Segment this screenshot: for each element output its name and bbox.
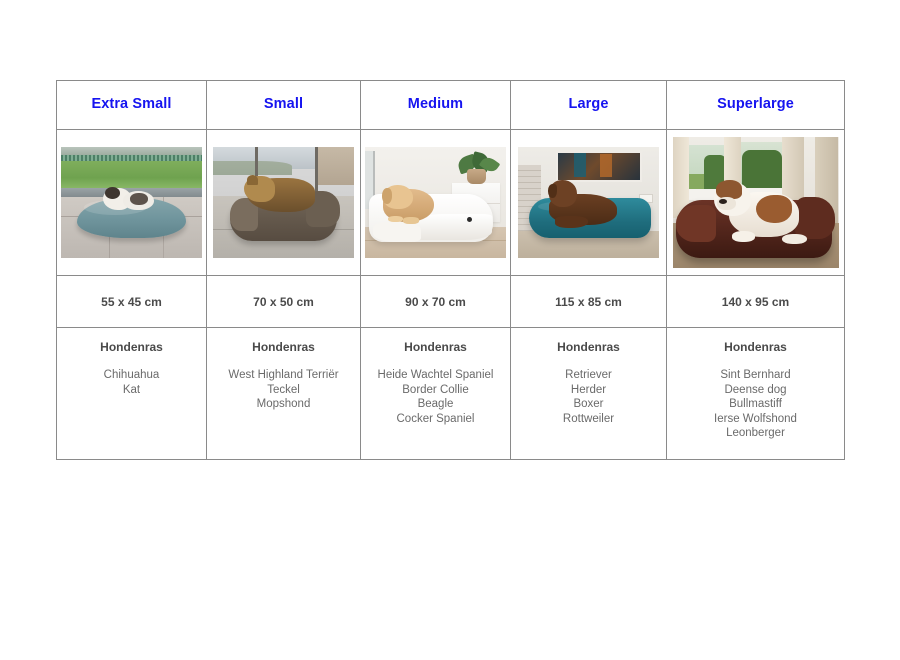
header-cell-medium: Medium <box>361 81 511 130</box>
dimension-cell-large: 115 x 85 cm <box>511 276 667 328</box>
photo-wall-layer <box>317 147 354 185</box>
breed-cell-superlarge: Hondenras Sint Bernhard Deense dog Bullm… <box>667 328 845 460</box>
breed-item: Teckel <box>207 383 360 398</box>
breed-block-superlarge: Hondenras Sint Bernhard Deense dog Bullm… <box>667 328 844 441</box>
photo-hedge-layer <box>742 150 782 191</box>
breed-item: Deense dog <box>667 383 844 398</box>
breed-item: Kat <box>57 383 206 398</box>
photo-dog-paw <box>782 234 807 244</box>
breed-item: Boxer <box>511 397 666 412</box>
dog-bed-superlarge-photo <box>673 137 839 268</box>
photo-cell-medium <box>361 130 511 276</box>
dimension-cell-small: 70 x 50 cm <box>207 276 361 328</box>
photo-window-mullion <box>315 147 318 198</box>
breed-list-extra-small: Chihuahua Kat <box>57 368 206 397</box>
breed-cell-small: Hondenras West Highland Terriër Teckel M… <box>207 328 361 460</box>
photo-dog-ear <box>247 175 258 185</box>
dog-bed-medium-photo <box>365 147 506 258</box>
breed-list-large: Retriever Herder Boxer Rottweiler <box>511 368 666 426</box>
header-cell-small: Small <box>207 81 361 130</box>
breed-item: Chihuahua <box>57 368 206 383</box>
dimension-label-small: 70 x 50 cm <box>207 295 360 309</box>
photo-plant-pot <box>467 169 487 183</box>
breed-block-small: Hondenras West Highland Terriër Teckel M… <box>207 328 360 412</box>
breed-title-small: Hondenras <box>207 340 360 354</box>
table-dimension-row: 55 x 45 cm 70 x 50 cm 90 x 70 cm 115 x 8… <box>57 276 845 328</box>
table-header-row: Extra Small Small Medium Large Superlarg… <box>57 81 845 130</box>
dimension-label-medium: 90 x 70 cm <box>361 295 510 309</box>
breed-item: Retriever <box>511 368 666 383</box>
photo-cell-small <box>207 130 361 276</box>
breed-cell-extra-small: Hondenras Chihuahua Kat <box>57 328 207 460</box>
header-label-small: Small <box>207 97 360 113</box>
breed-block-extra-small: Hondenras Chihuahua Kat <box>57 328 206 397</box>
header-label-large: Large <box>511 97 666 113</box>
dimension-cell-extra-small: 55 x 45 cm <box>57 276 207 328</box>
photo-wrap-medium <box>361 130 510 275</box>
breed-item: Border Collie <box>361 383 510 398</box>
header-cell-extra-small: Extra Small <box>57 81 207 130</box>
breed-item: West Highland Terriër <box>207 368 360 383</box>
page-canvas: Extra Small Small Medium Large Superlarg… <box>0 0 900 660</box>
photo-dog-paw <box>732 231 755 241</box>
breed-item: Rottweiler <box>511 412 666 427</box>
breed-title-large: Hondenras <box>511 340 666 354</box>
photo-dog-nose <box>719 199 727 204</box>
photo-cell-superlarge <box>667 130 845 276</box>
table-breed-row: Hondenras Chihuahua Kat Hondenras West H… <box>57 328 845 460</box>
dimension-label-large: 115 x 85 cm <box>511 295 666 309</box>
breed-list-small: West Highland Terriër Teckel Mopshond <box>207 368 360 412</box>
breed-item: Mopshond <box>207 397 360 412</box>
photo-wrap-large <box>511 130 666 275</box>
breed-item: Herder <box>511 383 666 398</box>
breed-item: Heide Wachtel Spaniel <box>361 368 510 383</box>
breed-block-medium: Hondenras Heide Wachtel Spaniel Border C… <box>361 328 510 426</box>
photo-dog-bed-bolster <box>795 197 835 239</box>
breed-item: Ierse Wolfshond <box>667 412 844 427</box>
header-cell-superlarge: Superlarge <box>667 81 845 130</box>
photo-dog-marking <box>130 193 148 205</box>
photo-wrap-extra-small <box>57 130 206 275</box>
photo-wrap-superlarge <box>667 130 844 275</box>
photo-dog-bed-fold <box>373 222 421 242</box>
breed-block-large: Hondenras Retriever Herder Boxer Rottwei… <box>511 328 666 426</box>
photo-dog-marking <box>716 180 743 198</box>
photo-wrap-small <box>207 130 360 275</box>
photo-painting-detail <box>574 153 585 177</box>
photo-dog-ear <box>382 188 392 204</box>
breed-list-medium: Heide Wachtel Spaniel Border Collie Beag… <box>361 368 510 426</box>
header-label-superlarge: Superlarge <box>667 97 844 113</box>
header-cell-large: Large <box>511 81 667 130</box>
photo-dog-paw <box>403 217 419 224</box>
breed-cell-medium: Hondenras Heide Wachtel Spaniel Border C… <box>361 328 511 460</box>
photo-dog-leg <box>555 216 589 228</box>
breed-item: Beagle <box>361 397 510 412</box>
header-label-extra-small: Extra Small <box>57 97 206 113</box>
dimension-label-superlarge: 140 x 95 cm <box>667 295 844 309</box>
dog-bed-extra-small-photo <box>61 147 202 258</box>
photo-cell-large <box>511 130 667 276</box>
dimension-cell-medium: 90 x 70 cm <box>361 276 511 328</box>
photo-cell-extra-small <box>57 130 207 276</box>
breed-list-superlarge: Sint Bernhard Deense dog Bullmastiff Ier… <box>667 368 844 441</box>
dog-bed-size-table: Extra Small Small Medium Large Superlarg… <box>56 80 845 460</box>
dog-bed-large-photo <box>518 147 659 258</box>
breed-title-medium: Hondenras <box>361 340 510 354</box>
dimension-label-extra-small: 55 x 45 cm <box>57 295 206 309</box>
breed-item: Cocker Spaniel <box>361 412 510 427</box>
breed-item: Sint Bernhard <box>667 368 844 383</box>
breed-cell-large: Hondenras Retriever Herder Boxer Rottwei… <box>511 328 667 460</box>
header-label-medium: Medium <box>361 97 510 113</box>
breed-title-extra-small: Hondenras <box>57 340 206 354</box>
table-photo-row <box>57 130 845 276</box>
photo-painting-detail <box>600 154 613 177</box>
photo-dog-bed-bolster <box>676 205 716 242</box>
breed-item: Bullmastiff <box>667 397 844 412</box>
photo-dog-marking <box>756 195 793 224</box>
breed-title-superlarge: Hondenras <box>667 340 844 354</box>
breed-item: Leonberger <box>667 426 844 441</box>
photo-lawn-layer <box>61 161 202 189</box>
dimension-cell-superlarge: 140 x 95 cm <box>667 276 845 328</box>
dog-bed-small-photo <box>213 147 354 258</box>
